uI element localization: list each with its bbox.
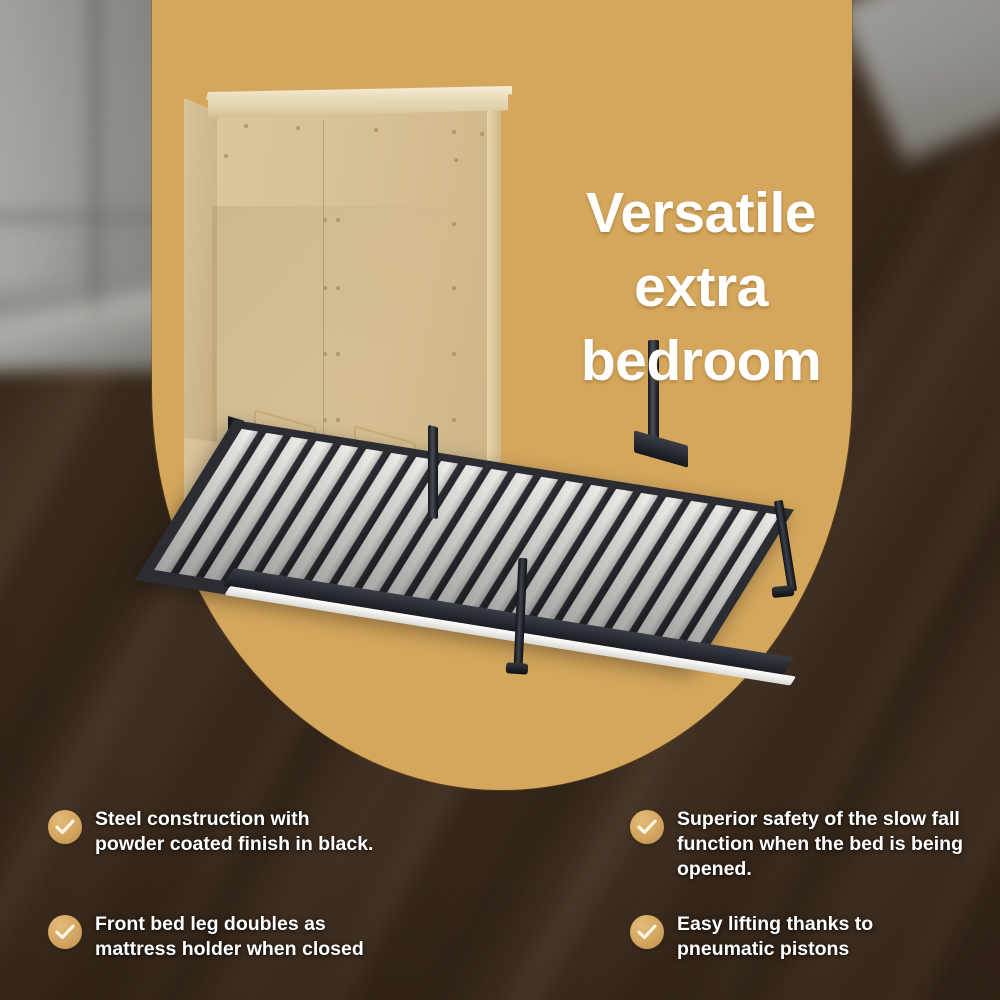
headline-line-2: extra: [556, 250, 846, 324]
left-hinge-arm: [428, 425, 438, 519]
feature-list: Steel construction with powder coated fi…: [0, 795, 1000, 1000]
feature-text: Front bed leg doubles as mattress holder…: [95, 912, 393, 962]
cabinet-screw: [224, 154, 228, 158]
cabinet-screw: [452, 222, 456, 226]
headline: Versatile extra bedroom: [556, 176, 846, 398]
cabinet-screw: [296, 126, 300, 130]
cabinet-screw: [374, 128, 378, 132]
feature-item-steel-construction: Steel construction with powder coated fi…: [48, 807, 378, 857]
front-leg-foot: [506, 662, 529, 675]
cabinet-screw: [452, 130, 456, 134]
cabinet-screw: [323, 218, 327, 222]
cabinet-screw: [454, 158, 458, 162]
hinge-mount-plate: [634, 430, 688, 467]
headline-line-1: Versatile: [556, 176, 846, 250]
cabinet-screw: [480, 132, 484, 136]
headline-line-3: bedroom: [556, 324, 846, 398]
cabinet-screw: [323, 286, 327, 290]
cabinet-screw: [244, 124, 248, 128]
feature-item-slow-fall-safety: Superior safety of the slow fall functio…: [630, 807, 965, 882]
check-icon: [630, 915, 664, 949]
feature-text: Easy lifting thanks to pneumatic pistons: [677, 912, 960, 962]
feature-item-front-bed-leg: Front bed leg doubles as mattress holder…: [48, 912, 393, 962]
check-icon: [630, 810, 664, 844]
right-leg-foot: [771, 585, 794, 598]
feature-item-pneumatic-pistons: Easy lifting thanks to pneumatic pistons: [630, 912, 960, 962]
cabinet-screw: [336, 218, 340, 222]
feature-text: Superior safety of the slow fall functio…: [677, 807, 965, 882]
cabinet-screw: [452, 286, 456, 290]
check-icon: [48, 915, 82, 949]
cabinet-screw: [336, 286, 340, 290]
check-icon: [48, 810, 82, 844]
feature-text: Steel construction with powder coated fi…: [95, 807, 378, 857]
product-feature-poster: Versatile extra bedroom Steel constructi…: [0, 0, 1000, 1000]
